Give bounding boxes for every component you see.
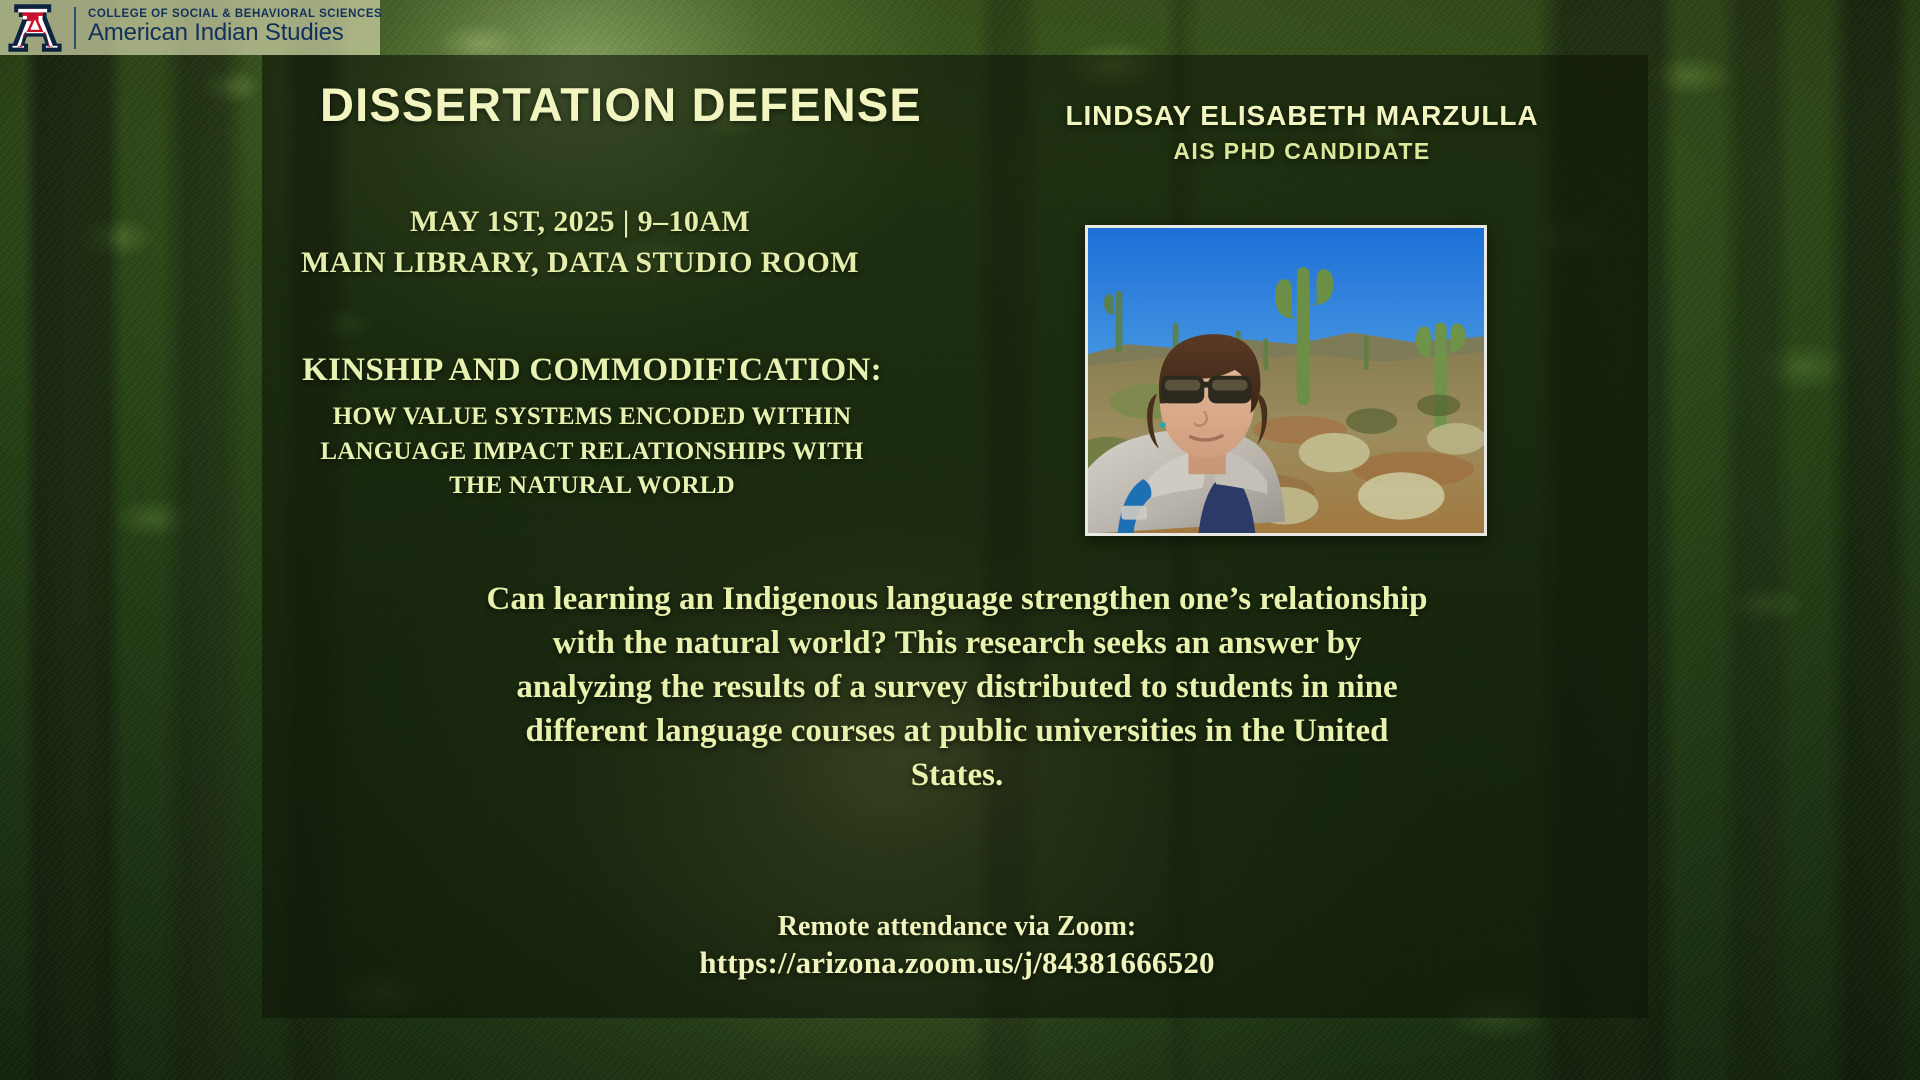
dissertation-title: KINSHIP AND COMMODIFICATION:	[282, 352, 902, 389]
presenter-name: LINDSAY ELISABETH MARZULLA	[992, 100, 1612, 132]
dissertation-subtitle-line-3: THE NATURAL WORLD	[282, 469, 902, 504]
department-name: American Indian Studies	[88, 20, 382, 47]
university-of-arizona-a-logo	[6, 2, 64, 54]
page-title: DISSERTATION DEFENSE	[320, 77, 922, 132]
avatar	[1088, 228, 1484, 534]
zoom-meeting-link[interactable]: https://arizona.zoom.us/j/84381666520	[522, 944, 1392, 982]
dissertation-subtitle: HOW VALUE SYSTEMS ENCODED WITHIN LANGUAG…	[282, 400, 902, 504]
remote-attendance-block: Remote attendance via Zoom: https://ariz…	[522, 910, 1392, 982]
abstract-text: Can learning an Indigenous language stre…	[482, 578, 1432, 797]
event-location: MAIN LIBRARY, DATA STUDIO ROOM	[300, 246, 860, 280]
presenter-role: AIS PHD CANDIDATE	[992, 138, 1612, 165]
flyer-content: DISSERTATION DEFENSE MAY 1ST, 2025 | 9–1…	[262, 55, 1648, 1018]
brand-text-block: COLLEGE OF SOCIAL & BEHAVIORAL SCIENCES …	[88, 8, 382, 48]
dissertation-subtitle-line-2: LANGUAGE IMPACT RELATIONSHIPS WITH	[282, 435, 902, 470]
brand-divider	[74, 7, 76, 49]
presenter-photo-frame	[1085, 225, 1487, 536]
dissertation-subtitle-line-1: HOW VALUE SYSTEMS ENCODED WITHIN	[282, 400, 902, 435]
content-overlay-panel: DISSERTATION DEFENSE MAY 1ST, 2025 | 9–1…	[262, 55, 1648, 1018]
university-brand-bar: COLLEGE OF SOCIAL & BEHAVIORAL SCIENCES …	[0, 0, 380, 55]
remote-attendance-label: Remote attendance via Zoom:	[522, 910, 1392, 944]
flyer-canvas: COLLEGE OF SOCIAL & BEHAVIORAL SCIENCES …	[0, 0, 1920, 1080]
event-datetime: MAY 1ST, 2025 | 9–10AM	[300, 205, 860, 239]
